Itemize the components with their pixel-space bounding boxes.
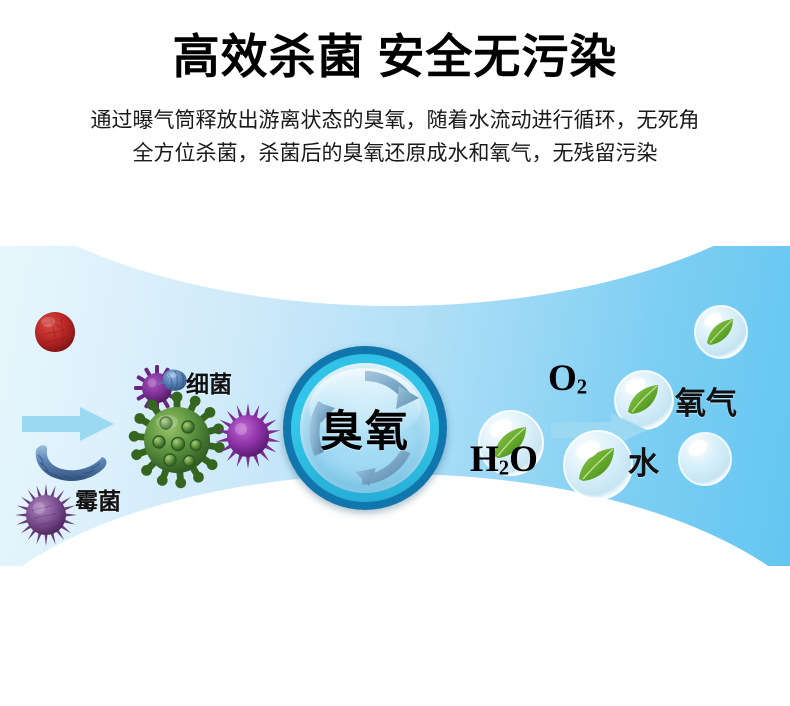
flow-arrow-in: [22, 406, 114, 442]
ozone-process-diagram: 细菌: [0, 246, 790, 566]
label-mold: 霉菌: [75, 482, 121, 516]
ozone-core: 臭氧: [283, 346, 447, 510]
germ-red-icon: [32, 309, 78, 360]
page-subtitle: 通过曝气筒释放出游离状态的臭氧，随着水流动进行循环，无死角 全方位杀菌，杀菌后的…: [45, 88, 745, 170]
subtitle-line-1: 通过曝气筒释放出游离状态的臭氧，随着水流动进行循环，无死角: [45, 104, 745, 137]
label-water-cn: 水: [628, 438, 659, 483]
formula-oxygen: O2: [548, 357, 587, 400]
formula-oxygen-symbol: O: [548, 358, 577, 399]
germ-purple-right-icon: [213, 401, 283, 476]
formula-h2o-subscript: 2: [499, 458, 509, 480]
formula-h2o: H2O: [470, 438, 538, 481]
ozone-core-label: 臭氧: [283, 346, 447, 510]
label-oxygen-cn: 氧气: [675, 378, 737, 423]
header: 高效杀菌 安全无污染 通过曝气筒释放出游离状态的臭氧，随着水流动进行循环，无死角…: [0, 0, 790, 170]
bubble-leaf-lower-icon: [562, 429, 634, 506]
formula-oxygen-subscript: 2: [577, 377, 587, 399]
germ-purple-large-icon: [12, 481, 80, 554]
bubble-plain-icon: [677, 431, 733, 492]
subtitle-line-2: 全方位杀菌，杀菌后的臭氧还原成水和氧气，无残留污染: [45, 137, 745, 170]
page-title: 高效杀菌 安全无污染: [0, 0, 790, 88]
formula-h2o-h: H: [470, 439, 499, 480]
formula-h2o-o: O: [509, 439, 538, 480]
bubble-leaf-topright-icon: [693, 304, 749, 365]
